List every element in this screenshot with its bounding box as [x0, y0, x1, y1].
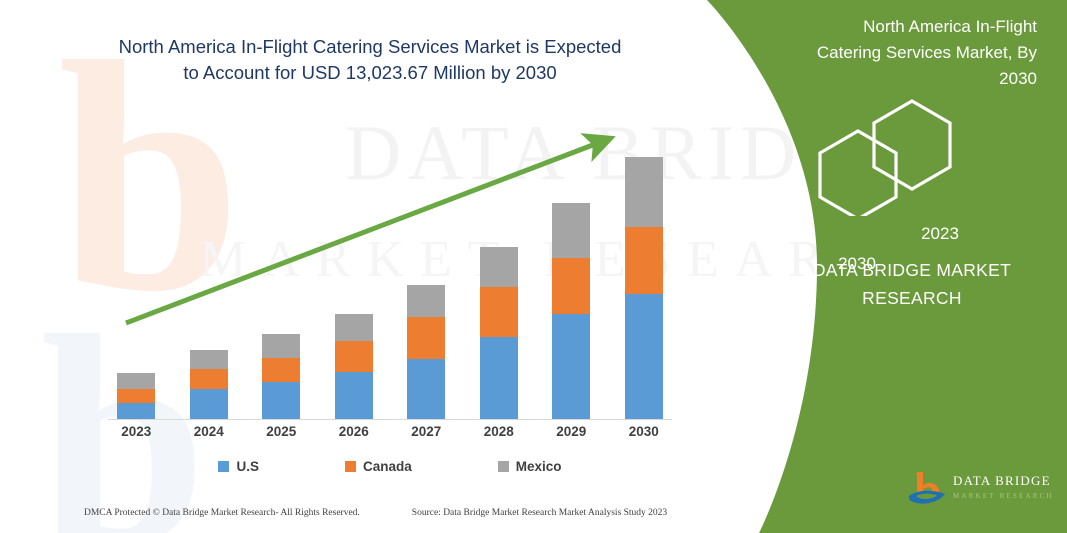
legend-swatch-mexico — [498, 461, 509, 472]
chart-plot-area — [100, 120, 680, 420]
bar-segment-canada-2027 — [407, 317, 445, 359]
bar-segment-us-2030 — [625, 294, 663, 419]
bar-2026 — [335, 314, 373, 419]
panel-title: North America In-Flight Catering Service… — [792, 14, 1037, 92]
bar-2030 — [625, 157, 663, 419]
brand-name-line2: RESEARCH — [787, 284, 1037, 312]
page-title: North America In-Flight Catering Service… — [60, 34, 680, 86]
bar-segment-mexico-2028 — [480, 247, 518, 287]
footer-source: Source: Data Bridge Market Research Mark… — [412, 508, 667, 518]
logo-text-block: DATA BRIDGE MARKET RESEARCH — [953, 473, 1054, 500]
bar-2023 — [117, 373, 155, 419]
bar-segment-mexico-2024 — [190, 350, 228, 369]
x-axis-label-2027: 2027 — [396, 424, 456, 439]
bar-2024 — [190, 350, 228, 419]
bar-segment-us-2027 — [407, 359, 445, 419]
bar-segment-us-2023 — [117, 403, 155, 419]
logo-title: DATA BRIDGE — [953, 473, 1054, 489]
bar-segment-mexico-2023 — [117, 373, 155, 389]
legend-item-canada: Canada — [345, 459, 412, 474]
x-axis-label-2023: 2023 — [106, 424, 166, 439]
x-axis-label-2030: 2030 — [614, 424, 674, 439]
x-axis-label-2025: 2025 — [251, 424, 311, 439]
bar-segment-canada-2026 — [335, 341, 373, 372]
brand-panel: North America In-Flight Catering Service… — [687, 0, 1067, 533]
bar-segment-canada-2028 — [480, 287, 518, 337]
hexagon-outlines-icon — [800, 96, 1030, 216]
hexagon-2023-label: 2023 — [905, 224, 975, 244]
legend-swatch-us — [218, 461, 229, 472]
legend-item-mexico: Mexico — [498, 459, 562, 474]
bar-2025 — [262, 334, 300, 419]
bar-segment-us-2025 — [262, 382, 300, 419]
x-axis-label-2029: 2029 — [541, 424, 601, 439]
bar-segment-us-2026 — [335, 372, 373, 419]
brand-panel-content: North America In-Flight Catering Service… — [687, 0, 1067, 533]
panel-title-line2: Catering Services Market, By — [792, 40, 1037, 66]
infographic-canvas: b b DATA BRIDGE MARKET RESEARCH North Am… — [0, 0, 1067, 533]
footer-copyright: DMCA Protected © Data Bridge Market Rese… — [84, 508, 360, 518]
bar-segment-mexico-2029 — [552, 203, 590, 257]
hexagon-group: 2030 2023 — [800, 96, 1030, 216]
stacked-bar-chart — [100, 120, 680, 420]
bar-segment-canada-2024 — [190, 369, 228, 389]
bar-segment-canada-2025 — [262, 358, 300, 383]
bar-segment-canada-2029 — [552, 258, 590, 315]
legend-label-canada: Canada — [363, 459, 412, 474]
bar-segment-us-2029 — [552, 314, 590, 419]
bar-segment-mexico-2026 — [335, 314, 373, 340]
bar-segment-canada-2023 — [117, 389, 155, 403]
x-axis-label-2026: 2026 — [324, 424, 384, 439]
page-title-line1: North America In-Flight Catering Service… — [60, 34, 680, 60]
bar-segment-mexico-2027 — [407, 285, 445, 317]
bar-segment-mexico-2025 — [262, 334, 300, 357]
bar-segment-mexico-2030 — [625, 157, 663, 226]
page-title-line2: to Account for USD 13,023.67 Million by … — [60, 60, 680, 86]
bar-2028 — [480, 247, 518, 419]
legend-label-us: U.S — [236, 459, 259, 474]
footer: DMCA Protected © Data Bridge Market Rese… — [84, 508, 684, 518]
legend-item-us: U.S — [218, 459, 259, 474]
company-logo: DATA BRIDGE MARKET RESEARCH — [907, 468, 1057, 512]
brand-name: DATA BRIDGE MARKET RESEARCH — [787, 256, 1037, 312]
x-axis-label-2024: 2024 — [179, 424, 239, 439]
logo-subtitle: MARKET RESEARCH — [953, 492, 1054, 500]
x-axis-labels: 20232024202520262027202820292030 — [100, 424, 680, 444]
legend-label-mexico: Mexico — [516, 459, 562, 474]
legend-swatch-canada — [345, 461, 356, 472]
bar-2027 — [407, 285, 445, 419]
hexagon-2023-icon — [874, 101, 950, 189]
bar-segment-us-2028 — [480, 337, 518, 419]
brand-name-line1: DATA BRIDGE MARKET — [787, 256, 1037, 284]
panel-title-line1: North America In-Flight — [792, 14, 1037, 40]
chart-legend: U.SCanadaMexico — [100, 455, 680, 477]
x-axis-label-2028: 2028 — [469, 424, 529, 439]
bar-segment-us-2024 — [190, 389, 228, 419]
panel-title-line3: 2030 — [792, 66, 1037, 92]
logo-b-mark-icon — [907, 470, 949, 510]
bar-2029 — [552, 203, 590, 419]
x-axis-line — [108, 419, 672, 420]
bar-segment-canada-2030 — [625, 227, 663, 295]
